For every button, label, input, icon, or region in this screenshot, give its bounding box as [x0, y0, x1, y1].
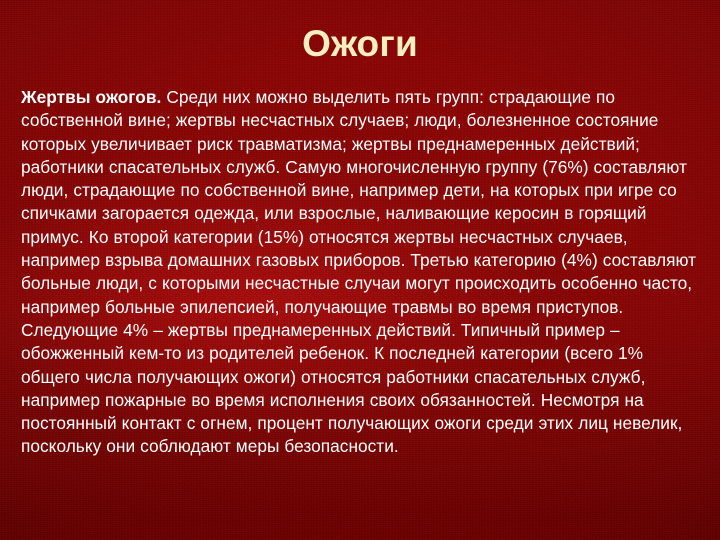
slide-title: Ожоги — [0, 22, 720, 66]
body-paragraph: Среди них можно выделить пять групп: стр… — [21, 87, 696, 456]
slide-content: Ожоги Жертвы ожогов. Среди них можно выд… — [0, 0, 720, 540]
slide-body-text: Жертвы ожогов. Среди них можно выделить … — [21, 86, 699, 459]
body-lead-phrase: Жертвы ожогов. — [21, 87, 161, 107]
presentation-slide: Ожоги Жертвы ожогов. Среди них можно выд… — [0, 0, 720, 540]
